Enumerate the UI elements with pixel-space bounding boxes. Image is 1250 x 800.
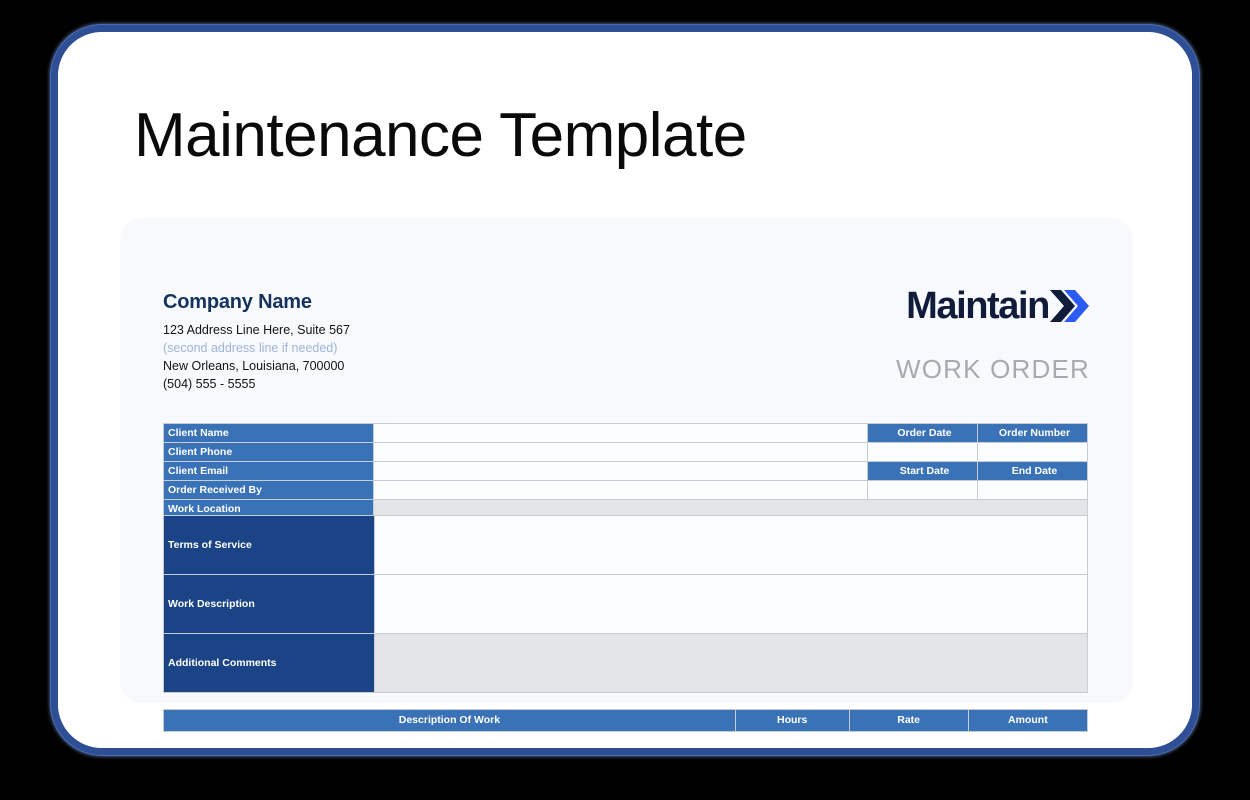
client-info-table: Client Name Order Date Order Number Clie… — [163, 423, 1088, 519]
field-input-client-phone[interactable] — [374, 443, 868, 462]
company-info-block: Company Name 123 Address Line Here, Suit… — [163, 291, 583, 393]
maintainx-x-icon — [1050, 288, 1090, 324]
table-row: Terms of Service — [164, 516, 1088, 575]
company-phone: (504) 555 - 5555 — [163, 375, 583, 393]
work-order-document-card: Company Name 123 Address Line Here, Suit… — [120, 218, 1133, 703]
field-input-order-date[interactable] — [868, 443, 978, 462]
table-row: Work Description — [164, 575, 1088, 634]
document-type-label: WORK ORDER — [896, 354, 1090, 384]
block-input-work-description[interactable] — [375, 575, 1088, 634]
maintainx-logo: Maintain — [906, 286, 1090, 326]
company-address-line-3: New Orleans, Louisiana, 700000 — [163, 357, 583, 375]
column-header-hours: Hours — [735, 710, 849, 732]
work-order-detail-blocks: Terms of Service Work Description Additi… — [163, 515, 1088, 693]
field-label-client-email: Client Email — [164, 462, 374, 481]
company-address-line-1: 123 Address Line Here, Suite 567 — [163, 321, 583, 339]
column-header-rate: Rate — [849, 710, 968, 732]
table-row: Additional Comments — [164, 634, 1088, 693]
field-input-start-date[interactable] — [868, 481, 978, 500]
field-input-order-received-by[interactable] — [374, 481, 868, 500]
block-label-additional-comments: Additional Comments — [164, 634, 375, 693]
company-name: Company Name — [163, 291, 583, 314]
company-address-line-2: (second address line if needed) — [163, 339, 583, 357]
screen-background: Maintenance Template Company Name 123 Ad… — [0, 0, 1250, 800]
page-title: Maintenance Template — [134, 100, 747, 172]
block-label-terms-of-service: Terms of Service — [164, 516, 375, 575]
window-content: Maintenance Template Company Name 123 Ad… — [58, 32, 1192, 748]
field-label-client-phone: Client Phone — [164, 443, 374, 462]
field-input-end-date[interactable] — [978, 481, 1088, 500]
browser-window-frame: Maintenance Template Company Name 123 Ad… — [58, 32, 1192, 748]
field-input-client-name[interactable] — [374, 424, 868, 443]
field-label-order-number: Order Number — [978, 424, 1088, 443]
table-row: Client Phone — [164, 443, 1088, 462]
block-label-work-description: Work Description — [164, 575, 375, 634]
field-label-client-name: Client Name — [164, 424, 374, 443]
work-charges-table-header: Description Of Work Hours Rate Amount — [163, 709, 1088, 732]
block-input-terms-of-service[interactable] — [375, 516, 1088, 575]
column-header-amount: Amount — [968, 710, 1087, 732]
work-order-document-inner: Company Name 123 Address Line Here, Suit… — [120, 218, 1133, 703]
column-header-description-of-work: Description Of Work — [164, 710, 736, 732]
field-input-order-number[interactable] — [978, 443, 1088, 462]
field-input-client-email[interactable] — [374, 462, 868, 481]
field-label-order-date: Order Date — [868, 424, 978, 443]
table-row: Description Of Work Hours Rate Amount — [164, 710, 1088, 732]
table-row: Client Email Start Date End Date — [164, 462, 1088, 481]
block-input-additional-comments[interactable] — [375, 634, 1088, 693]
table-row: Order Received By — [164, 481, 1088, 500]
field-label-start-date: Start Date — [868, 462, 978, 481]
field-label-end-date: End Date — [978, 462, 1088, 481]
maintainx-logo-wordmark: Maintain — [906, 287, 1049, 325]
table-row: Client Name Order Date Order Number — [164, 424, 1088, 443]
field-label-order-received-by: Order Received By — [164, 481, 374, 500]
